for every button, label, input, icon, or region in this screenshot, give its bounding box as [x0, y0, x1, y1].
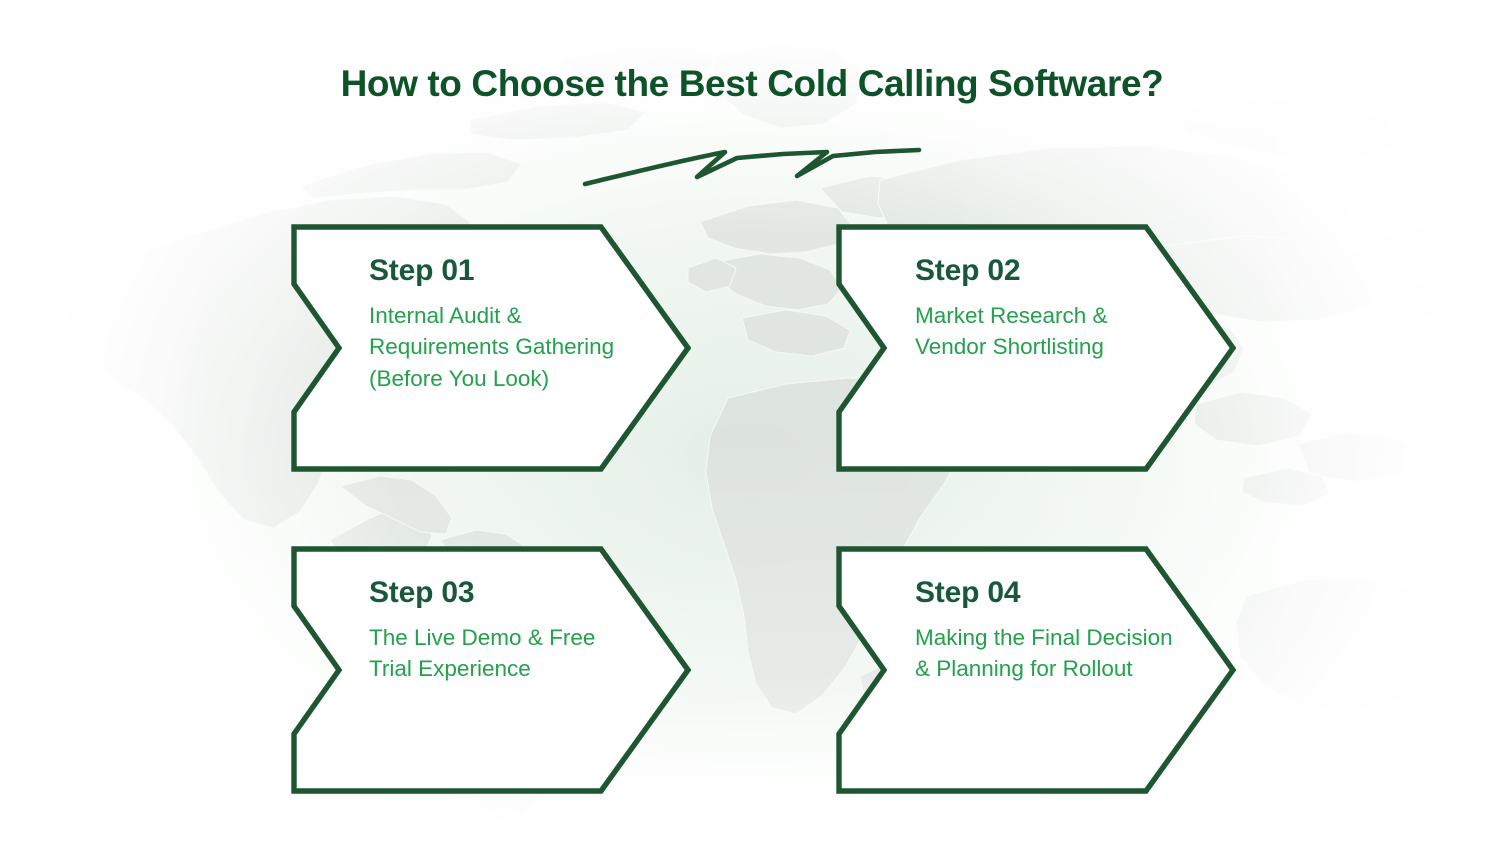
step-card-03[interactable]: Step 03 The Live Demo & Free Trial Exper…: [291, 546, 691, 794]
step-description: Making the Final Decision & Planning for…: [915, 622, 1183, 685]
step-description: Internal Audit & Requirements Gathering …: [369, 300, 631, 395]
page-title: How to Choose the Best Cold Calling Soft…: [0, 63, 1504, 106]
step-card-content: Step 02 Market Research & Vendor Shortli…: [915, 254, 1183, 363]
step-card-content: Step 04 Making the Final Decision & Plan…: [915, 576, 1183, 685]
step-heading: Step 01: [369, 254, 631, 288]
step-heading: Step 03: [369, 576, 631, 610]
zigzag-underline-icon: [575, 136, 935, 194]
step-card-content: Step 03 The Live Demo & Free Trial Exper…: [369, 576, 631, 685]
step-card-content: Step 01 Internal Audit & Requirements Ga…: [369, 254, 631, 394]
map-fade-overlay: [0, 0, 1504, 846]
step-description: The Live Demo & Free Trial Experience: [369, 622, 631, 685]
infographic-canvas: How to Choose the Best Cold Calling Soft…: [0, 0, 1504, 846]
step-heading: Step 04: [915, 576, 1183, 610]
step-card-04[interactable]: Step 04 Making the Final Decision & Plan…: [836, 546, 1236, 794]
step-heading: Step 02: [915, 254, 1183, 288]
step-card-02[interactable]: Step 02 Market Research & Vendor Shortli…: [836, 224, 1236, 472]
step-description: Market Research & Vendor Shortlisting: [915, 300, 1183, 363]
step-card-01[interactable]: Step 01 Internal Audit & Requirements Ga…: [291, 224, 691, 472]
world-map-background: [0, 0, 1504, 846]
